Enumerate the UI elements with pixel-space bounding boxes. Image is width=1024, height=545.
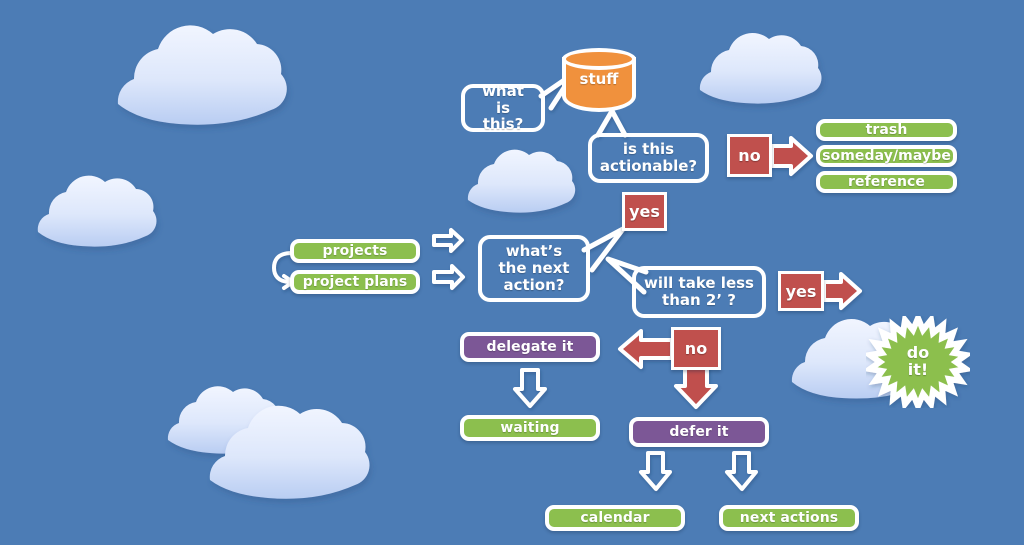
action-do-it-label: do it! [866, 345, 970, 379]
cloud-top-left [118, 25, 287, 124]
cloud-bottom-left-front [210, 406, 370, 499]
action-delegate-it[interactable]: delegate it [460, 332, 600, 362]
arrow-yes-to-do-it [824, 274, 860, 308]
decision-yes-two-minutes-label: yes [786, 282, 817, 301]
decision-no-two-minutes-label: no [685, 339, 707, 358]
bucket-projects[interactable]: projects [290, 239, 420, 263]
question-next-action-label: what’s the next action? [499, 243, 570, 293]
action-delegate-it-label: delegate it [487, 339, 574, 355]
question-what-is-this-label: what is this? [473, 83, 533, 133]
bucket-waiting[interactable]: waiting [460, 415, 600, 441]
bucket-reference[interactable]: reference [816, 171, 957, 193]
gtd-workflow-diagram: to trash/someday/reference --> to do it!… [0, 0, 1024, 545]
decision-yes-actionable-label: yes [629, 202, 660, 221]
question-is-this-actionable-label: is this actionable? [600, 141, 697, 175]
bucket-next-actions[interactable]: next actions [719, 505, 859, 531]
question-two-minutes[interactable]: will take less than 2’ ? [632, 266, 766, 318]
cloud-center [468, 150, 575, 213]
bucket-projects-label: projects [323, 243, 388, 259]
arrow-next-action-to-projects [434, 230, 462, 251]
question-is-this-actionable[interactable]: is this actionable? [588, 133, 709, 183]
cloud-left-mid [38, 176, 157, 247]
decision-no-not-actionable[interactable]: no [727, 134, 772, 177]
bucket-trash-label: trash [866, 122, 908, 138]
bucket-reference-label: reference [848, 174, 925, 190]
question-next-action[interactable]: what’s the next action? [478, 235, 590, 302]
bucket-next-actions-label: next actions [740, 510, 838, 526]
arrow-delegate-to-waiting [515, 370, 545, 406]
inbox-label: stuff [562, 70, 636, 88]
bucket-waiting-label: waiting [500, 420, 559, 436]
bucket-someday-maybe-label: someday/maybe [822, 148, 951, 164]
decision-no-label: no [738, 146, 760, 165]
decision-yes-actionable[interactable]: yes [622, 192, 667, 231]
action-do-it[interactable]: do it! [866, 316, 970, 408]
arrow-no-to-defer [676, 366, 716, 407]
arrow-defer-to-calendar [641, 453, 670, 489]
arrow-defer-to-next-actions [727, 453, 756, 489]
question-two-minutes-label: will take less than 2’ ? [644, 275, 754, 309]
bucket-someday-maybe[interactable]: someday/maybe [816, 145, 957, 167]
question-what-is-this[interactable]: what is this? [461, 84, 545, 132]
bucket-project-plans[interactable]: project plans [290, 270, 420, 294]
cloud-bottom-left-back [168, 386, 283, 453]
arrow-no-to-delegate [620, 331, 672, 367]
inbox-stuff-cylinder[interactable]: stuff [562, 48, 636, 120]
action-defer-it[interactable]: defer it [629, 417, 769, 447]
action-defer-it-label: defer it [669, 424, 728, 440]
arrow-no-to-nonactionable [772, 138, 811, 174]
bucket-calendar[interactable]: calendar [545, 505, 685, 531]
bucket-trash[interactable]: trash [816, 119, 957, 141]
bucket-calendar-label: calendar [580, 510, 649, 526]
cloud-top-right [700, 33, 822, 104]
cylinder-top [562, 48, 636, 70]
bucket-project-plans-label: project plans [303, 274, 408, 290]
decision-no-two-minutes[interactable]: no [671, 327, 721, 370]
decision-yes-two-minutes[interactable]: yes [778, 271, 824, 311]
arrow-next-action-to-project-plans [434, 266, 463, 288]
